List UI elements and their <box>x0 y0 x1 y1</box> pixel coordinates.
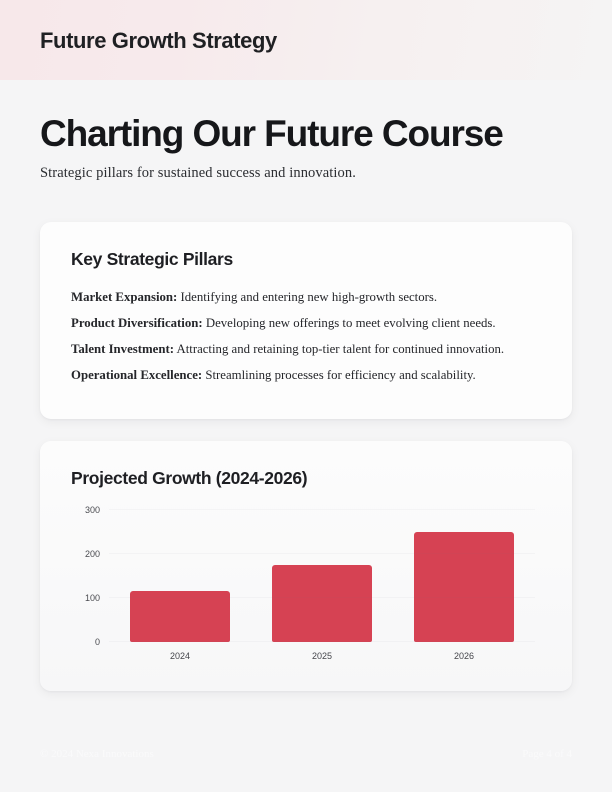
chart-gridline <box>109 509 535 510</box>
page-subtitle: Strategic pillars for sustained success … <box>40 165 580 182</box>
y-axis-tick-label: 200 <box>70 549 100 559</box>
chart-bars: 202420252026 <box>109 510 535 642</box>
x-axis-tick-label: 2026 <box>454 651 474 661</box>
chart-bar-group: 2025 <box>258 510 386 642</box>
pillar-label: Market Expansion: <box>71 290 177 304</box>
chart-gridline <box>109 597 535 598</box>
footer-copyright: © 2024 Nexa Innovations <box>40 748 154 760</box>
pillars-card-title: Key Strategic Pillars <box>71 249 233 270</box>
chart-bar <box>414 532 514 642</box>
header-title: Future Growth Strategy <box>40 28 277 54</box>
chart-bar-group: 2024 <box>116 510 244 642</box>
footer: © 2024 Nexa Innovations Page 4 of 4 <box>40 748 572 760</box>
hero-block: Charting Our Future Course Strategic pil… <box>40 113 580 182</box>
chart-gridline <box>109 553 535 554</box>
bar-chart: 202420252026 0100200300 <box>71 501 541 671</box>
header-band: Future Growth Strategy <box>0 0 612 80</box>
pillar-item: Talent Investment: Attracting and retain… <box>71 341 541 358</box>
chart-bar <box>130 591 230 642</box>
y-axis-tick-label: 300 <box>70 505 100 515</box>
pillar-label: Talent Investment: <box>71 342 174 356</box>
footer-page-number: Page 4 of 4 <box>522 748 572 760</box>
pillar-item: Product Diversification: Developing new … <box>71 315 541 332</box>
x-axis-tick-label: 2025 <box>312 651 332 661</box>
pillar-text: Developing new offerings to meet evolvin… <box>203 316 496 330</box>
y-axis-tick-label: 0 <box>70 637 100 647</box>
chart-plot-area: 202420252026 0100200300 <box>109 510 535 642</box>
key-strategic-pillars-card: Key Strategic Pillars Market Expansion: … <box>40 222 572 419</box>
pillar-label: Operational Excellence: <box>71 368 202 382</box>
pillar-text: Identifying and entering new high-growth… <box>177 290 437 304</box>
x-axis-tick-label: 2024 <box>170 651 190 661</box>
y-axis-tick-label: 100 <box>70 593 100 603</box>
pillar-label: Product Diversification: <box>71 316 203 330</box>
pillar-item: Operational Excellence: Streamlining pro… <box>71 367 541 384</box>
page-title: Charting Our Future Course <box>40 113 580 154</box>
chart-bar <box>272 565 372 642</box>
pillar-item: Market Expansion: Identifying and enteri… <box>71 289 541 306</box>
chart-card-title: Projected Growth (2024-2026) <box>71 468 307 489</box>
pillar-text: Attracting and retaining top-tier talent… <box>174 342 504 356</box>
projected-growth-card: Projected Growth (2024-2026) 20242025202… <box>40 441 572 691</box>
pillar-text: Streamlining processes for efficiency an… <box>202 368 476 382</box>
chart-bar-group: 2026 <box>400 510 528 642</box>
chart-gridline <box>109 641 535 642</box>
pillar-list: Market Expansion: Identifying and enteri… <box>71 289 541 384</box>
